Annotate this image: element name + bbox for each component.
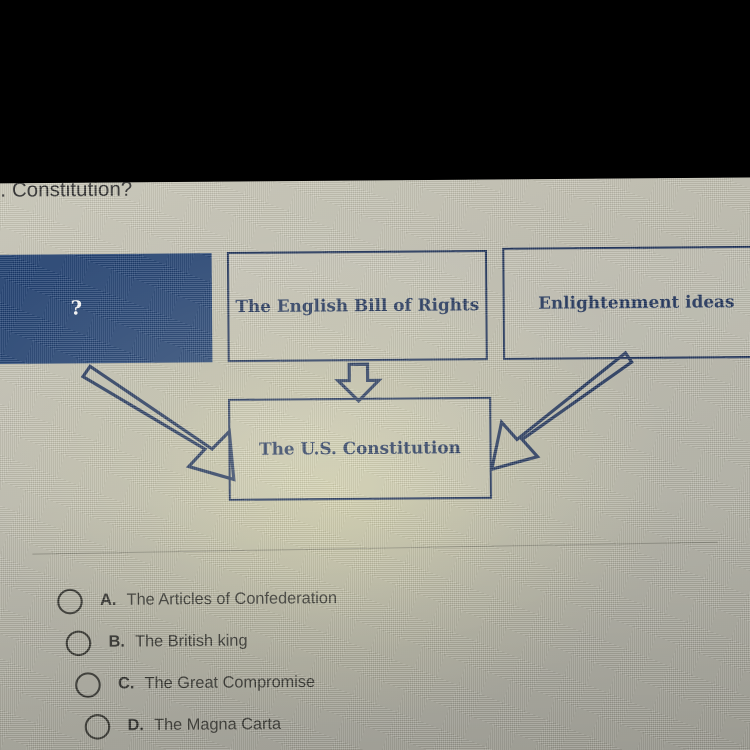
answer-choice-d-letter: D. xyxy=(127,717,150,736)
radio-button-icon-c[interactable] xyxy=(75,672,101,698)
arrow-enlightenment-to-constitution xyxy=(491,353,633,469)
radio-button-icon-b[interactable] xyxy=(66,630,92,656)
answer-choice-d-text: The Magna Carta xyxy=(154,716,281,735)
question-stem: S. Constitution? xyxy=(0,178,132,203)
answer-choice-c-text: The Great Compromise xyxy=(145,674,316,694)
answer-choice-b-text: The British king xyxy=(135,632,248,651)
answer-choice-c[interactable]: C. The Great Compromise xyxy=(75,660,670,705)
answer-choice-list: A. The Articles of Confederation B. The … xyxy=(57,576,670,748)
arrow-englishbill-to-constitution xyxy=(338,364,379,401)
radio-button-icon-d[interactable] xyxy=(85,713,111,739)
diagram-box-english-bill-of-rights-label: The English Bill of Rights xyxy=(235,295,479,318)
radio-button-icon-a[interactable] xyxy=(57,588,83,614)
answer-choice-c-letter: C. xyxy=(118,675,141,694)
diagram-box-enlightenment-ideas-label: Enlightenment ideas xyxy=(538,292,734,315)
diagram-box-us-constitution: The U.S. Constitution xyxy=(228,397,492,501)
answer-choice-a-text: The Articles of Confederation xyxy=(127,590,338,610)
answer-choice-b-letter: B. xyxy=(108,633,131,652)
arrow-unknown-to-constitution xyxy=(83,365,234,480)
photographed-screen: S. Constitution? ? The English Bill of R… xyxy=(0,0,750,750)
diagram-box-unknown: ? xyxy=(0,253,212,364)
diagram-box-english-bill-of-rights: The English Bill of Rights xyxy=(227,250,488,362)
answer-choice-d[interactable]: D. The Magna Carta xyxy=(85,701,671,746)
diagram-box-enlightenment-ideas: Enlightenment ideas xyxy=(502,246,750,360)
diagram-box-us-constitution-label: The U.S. Constitution xyxy=(259,438,461,461)
answer-choice-b[interactable]: B. The British king xyxy=(66,618,670,664)
diagram-box-unknown-label: ? xyxy=(71,297,83,321)
answer-choice-a-letter: A. xyxy=(100,591,123,610)
section-divider xyxy=(32,542,717,555)
answer-choice-a[interactable]: A. The Articles of Confederation xyxy=(57,576,669,622)
quiz-screen: S. Constitution? ? The English Bill of R… xyxy=(0,177,750,750)
